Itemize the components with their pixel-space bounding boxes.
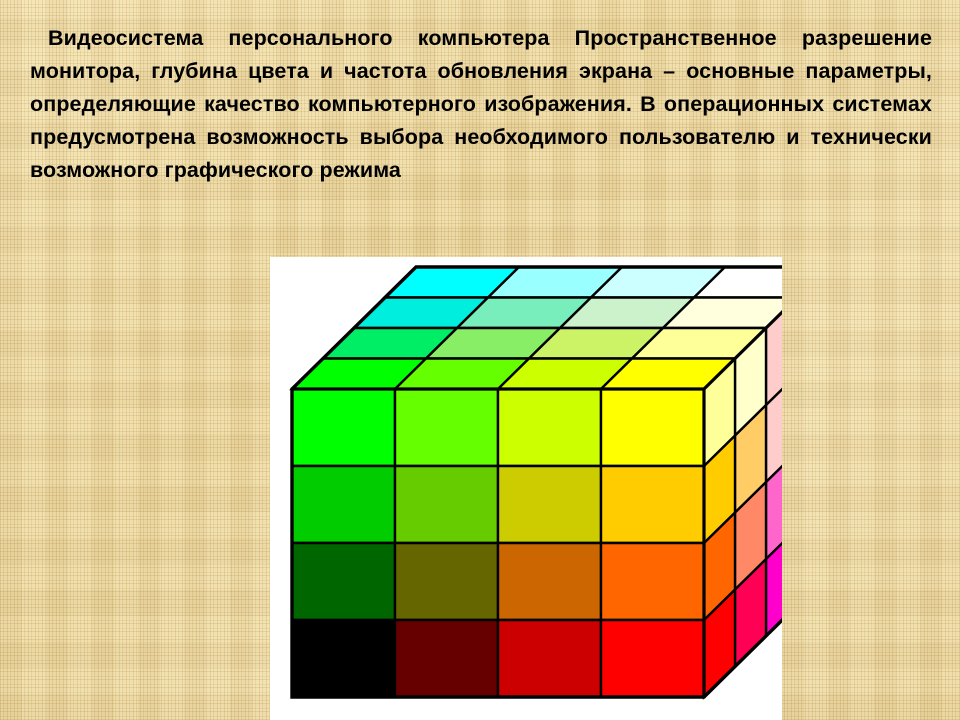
cube-cell-front-r1-c3	[601, 466, 704, 543]
color-cube-illustration	[270, 257, 782, 720]
cube-cell-front-r0-c1	[395, 389, 498, 466]
cube-cell-front-r2-c1	[395, 543, 498, 620]
cube-cell-front-r1-c2	[498, 466, 601, 543]
cube-cell-front-r3-c1	[395, 620, 498, 697]
cube-cell-front-r2-c3	[601, 543, 704, 620]
body-paragraph: Видеосистема персонального компьютера Пр…	[30, 22, 932, 187]
cube-cell-front-r3-c3	[601, 620, 704, 697]
color-cube-picture-panel	[270, 257, 782, 720]
cube-cell-front-r2-c0	[292, 543, 395, 620]
cube-cell-front-r2-c2	[498, 543, 601, 620]
cube-cell-front-r1-c0	[292, 466, 395, 543]
slide-body-text: Видеосистема персонального компьютера Пр…	[30, 22, 932, 187]
cube-cell-front-r3-c2	[498, 620, 601, 697]
cube-cell-front-r1-c1	[395, 466, 498, 543]
cube-cell-front-r0-c3	[601, 389, 704, 466]
cube-cell-front-r0-c2	[498, 389, 601, 466]
cube-cell-front-r0-c0	[292, 389, 395, 466]
cube-cell-front-r3-c0	[292, 620, 395, 697]
slide-canvas: Видеосистема персонального компьютера Пр…	[0, 0, 960, 720]
